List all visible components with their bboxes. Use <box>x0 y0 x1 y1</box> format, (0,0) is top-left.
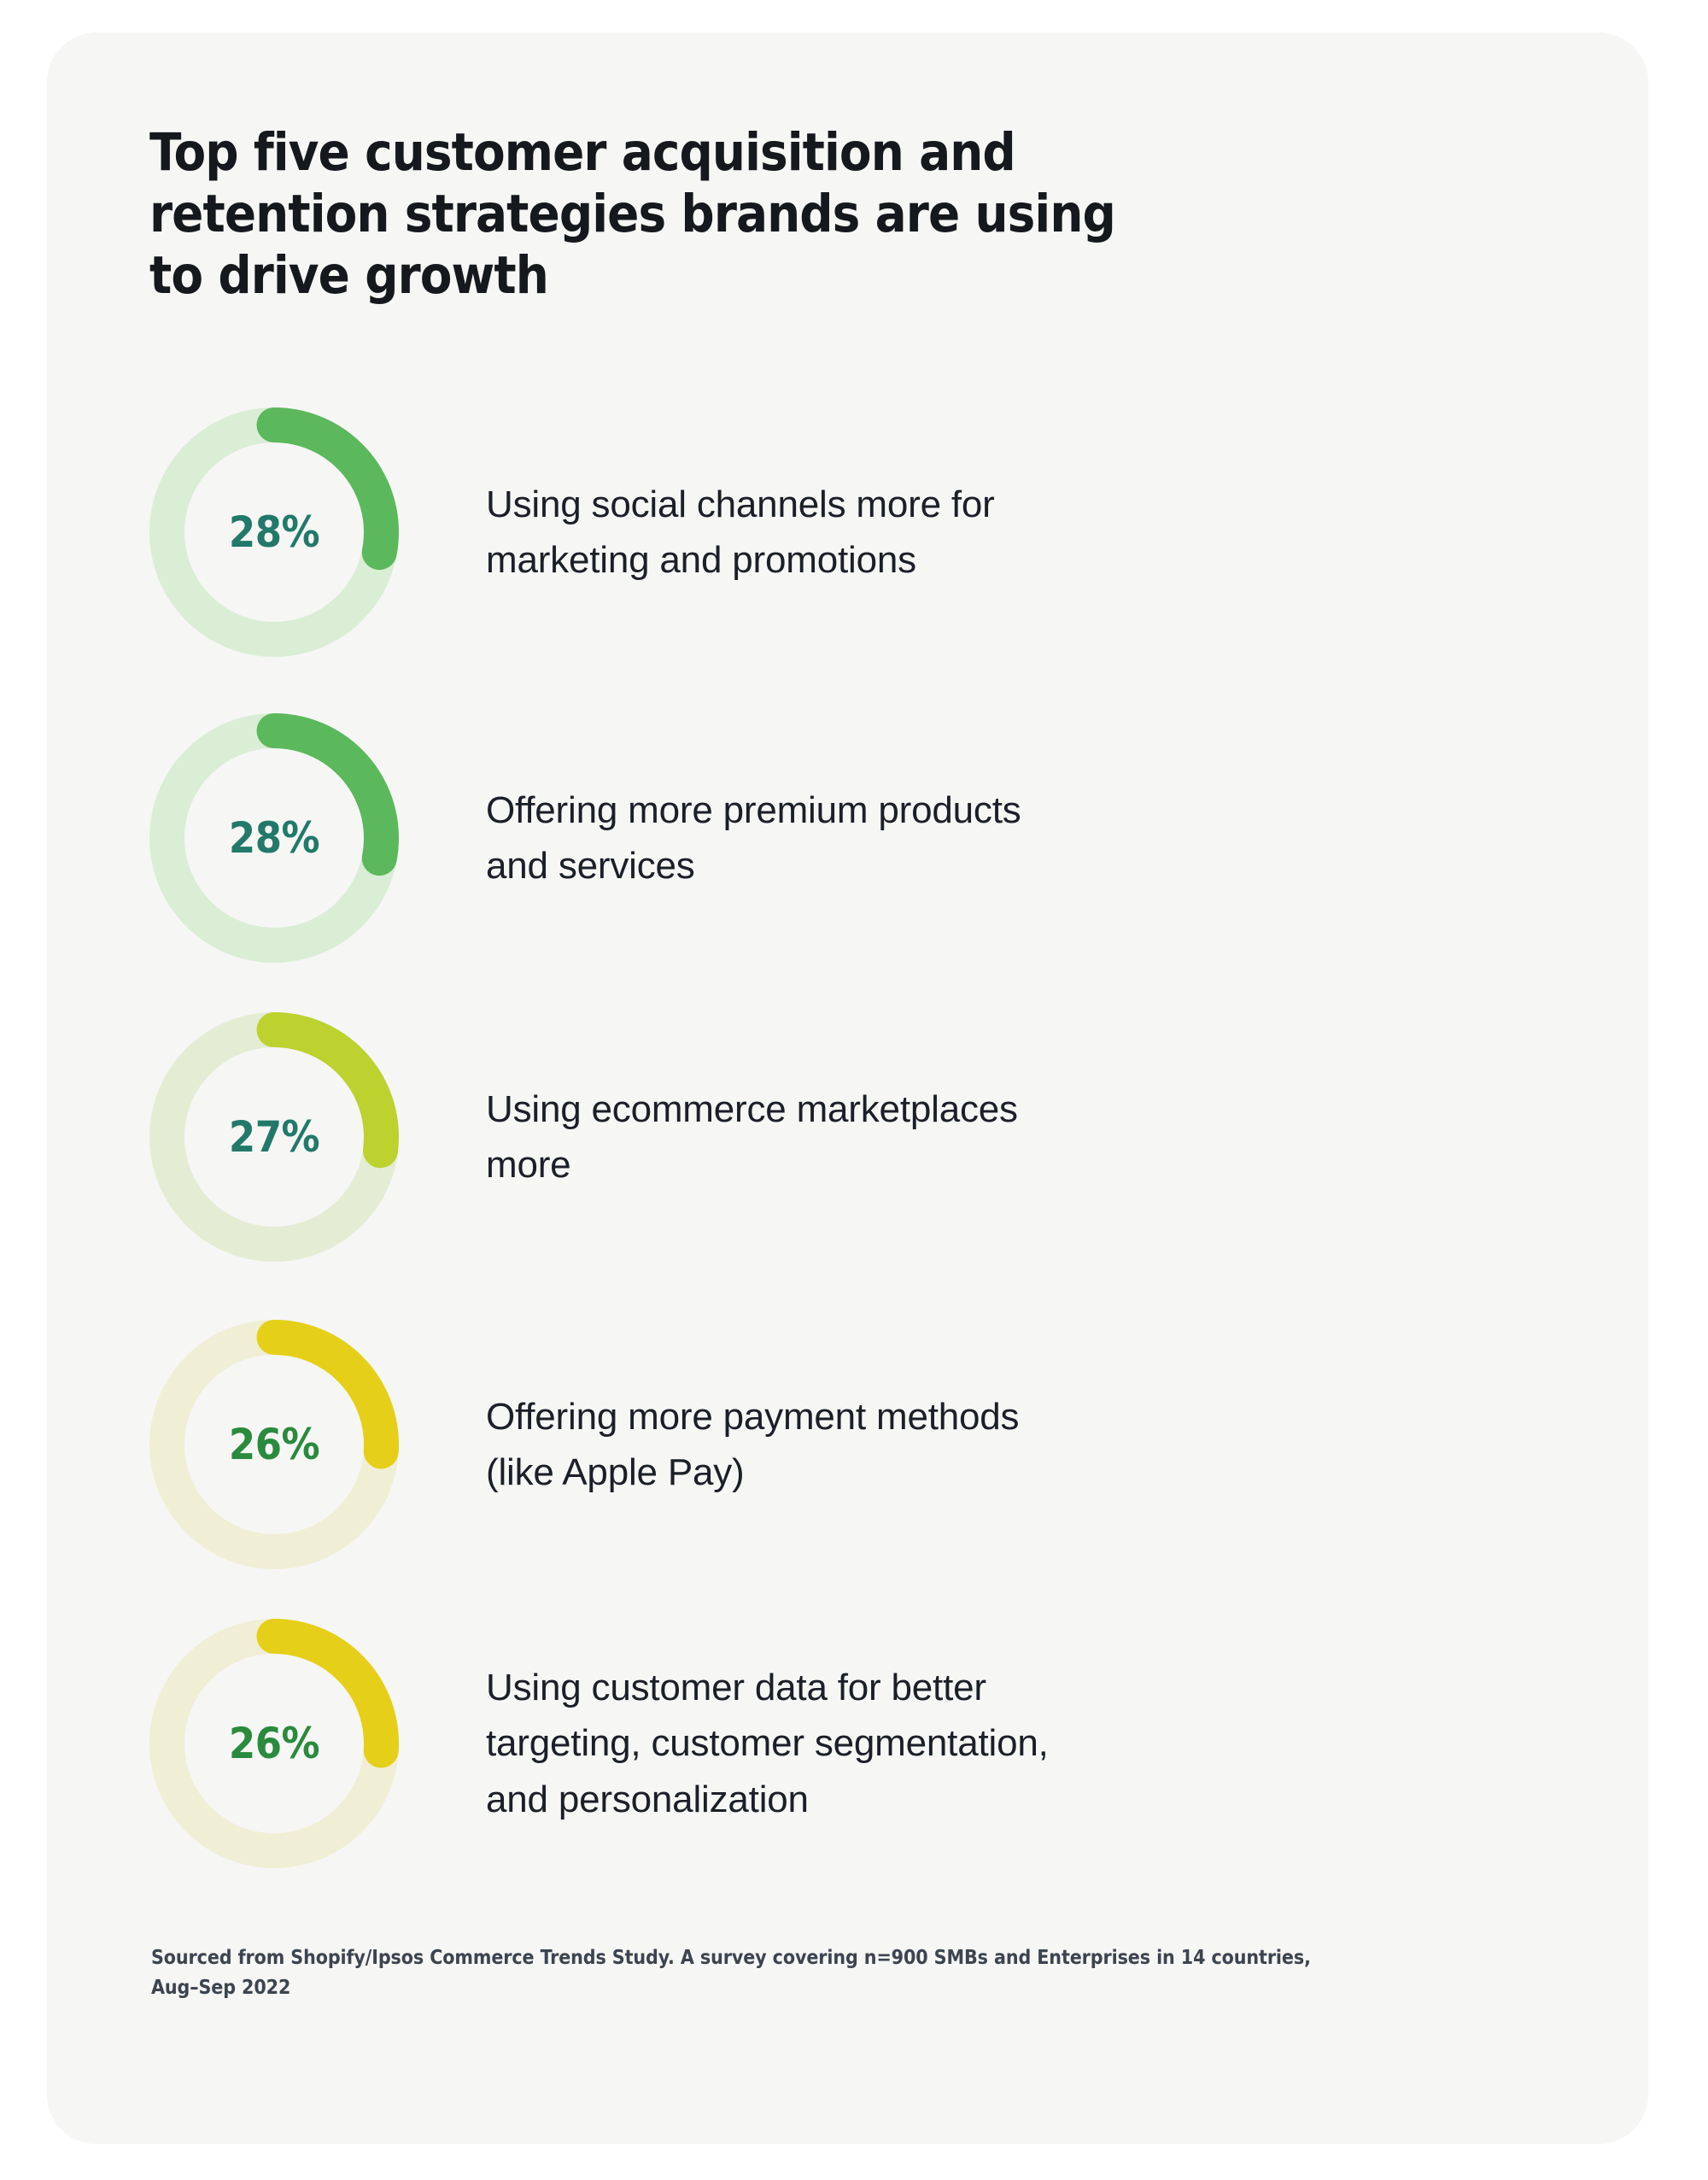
strategy-label: Using ecommerce marketplaces more <box>486 1081 1018 1193</box>
donut-chart: 28% <box>149 407 399 657</box>
donut-chart: 26% <box>149 1619 399 1868</box>
donut-chart: 27% <box>149 1012 399 1262</box>
strategy-label: Offering more premium products and servi… <box>486 782 1021 894</box>
strategy-label: Offering more payment methods (like Appl… <box>486 1389 1019 1500</box>
donut-value-label: 28% <box>149 713 399 963</box>
donut-value-label: 27% <box>149 1012 399 1262</box>
donut-value-label: 26% <box>149 1619 399 1868</box>
strategy-row: 26%Offering more payment methods (like A… <box>149 1321 1559 1568</box>
page-title: Top five customer acquisition and retent… <box>149 122 1533 307</box>
donut-chart: 28% <box>149 713 399 963</box>
strategy-row: 27%Using ecommerce marketplaces more <box>149 1013 1559 1261</box>
donut-chart: 26% <box>149 1320 399 1569</box>
source-note: Sourced from Shopify/Ipsos Commerce Tren… <box>151 1943 1552 2003</box>
strategy-label: Using social channels more for marketing… <box>486 477 995 588</box>
strategy-row: 26%Using customer data for better target… <box>149 1620 1559 1867</box>
strategy-label: Using customer data for better targeting… <box>486 1660 1049 1826</box>
strategy-row: 28%Using social channels more for market… <box>149 408 1559 656</box>
donut-value-label: 26% <box>149 1320 399 1569</box>
donut-value-label: 28% <box>149 407 399 657</box>
strategy-row: 28%Offering more premium products and se… <box>149 714 1559 962</box>
infographic-card: Top five customer acquisition and retent… <box>47 32 1648 2144</box>
